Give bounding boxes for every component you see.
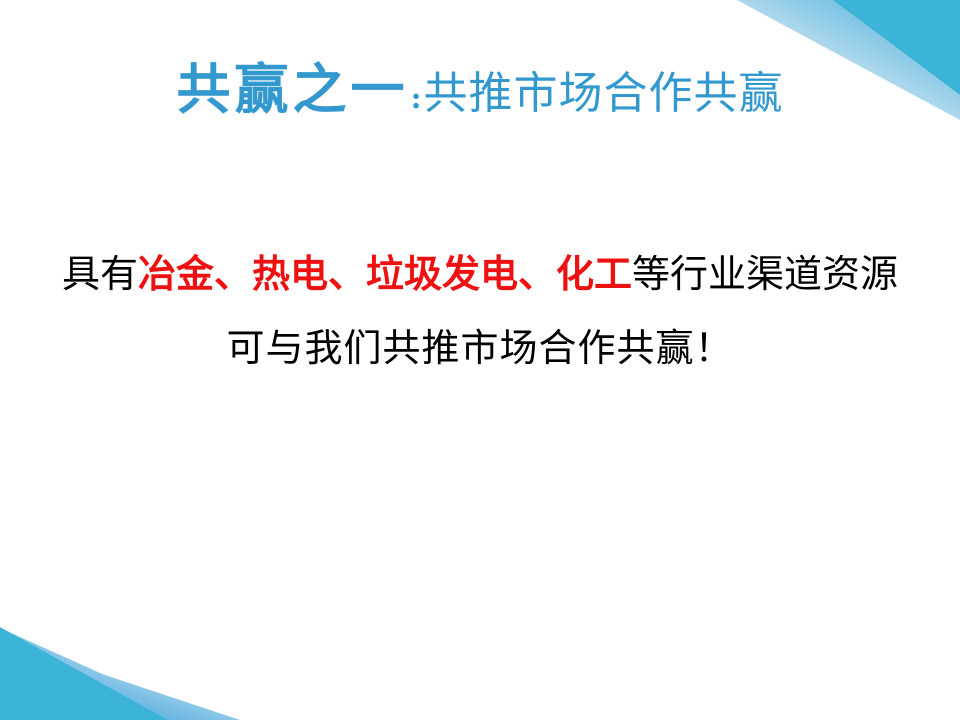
body-line-2-segment-plain: 可与我们共推市场合作共赢！ [226, 328, 733, 370]
slide-title: 共赢之一:共推市场合作共赢 [0, 62, 960, 116]
slide-canvas: 共赢之一:共推市场合作共赢 具有冶金、热电、垃圾发电、化工等行业渠道资源 可与我… [0, 0, 960, 720]
title-sub-text: 共推市场合作共赢 [424, 68, 784, 119]
body-line-1-segment-plain-right: 等行业渠道资源 [632, 254, 898, 296]
body-line-1-segment-plain-left: 具有 [62, 254, 138, 296]
body-content: 具有冶金、热电、垃圾发电、化工等行业渠道资源 可与我们共推市场合作共赢！ [0, 238, 960, 386]
body-line-1-segment-emphasis: 冶金、热电、垃圾发电、化工 [138, 254, 632, 296]
body-line-2: 可与我们共推市场合作共赢！ [0, 312, 960, 386]
body-line-1: 具有冶金、热电、垃圾发电、化工等行业渠道资源 [0, 238, 960, 312]
title-separator: : [408, 81, 423, 116]
bottom-left-gradient-wedge [0, 640, 240, 720]
bottom-left-gradient-band [0, 628, 205, 720]
bottom-left-solid-triangle [0, 627, 168, 720]
title-main-text: 共赢之一 [176, 57, 408, 121]
